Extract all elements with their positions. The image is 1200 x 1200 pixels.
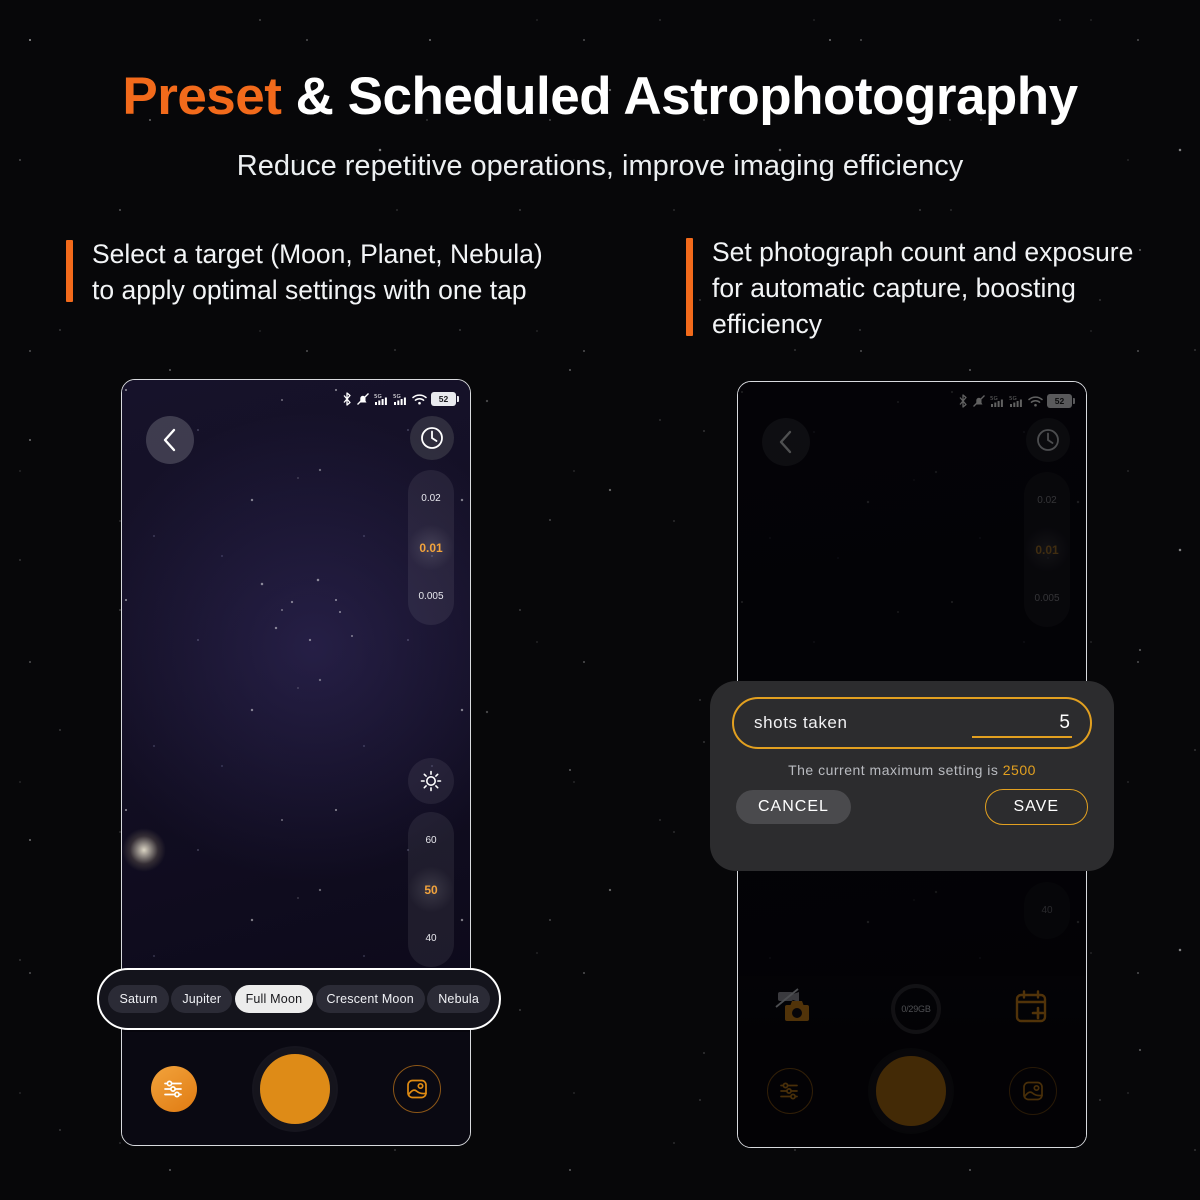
page-subtitle: Reduce repetitive operations, improve im… <box>0 150 1200 183</box>
max-setting-value: 2500 <box>1003 762 1036 778</box>
dialog-actions: CANCEL SAVE <box>732 789 1092 825</box>
camera-bottom-bar-left <box>122 1032 470 1145</box>
gallery-button[interactable] <box>393 1065 441 1113</box>
back-button[interactable] <box>146 416 194 464</box>
max-setting-hint-text: The current maximum setting is <box>788 762 1003 778</box>
signal-5g-icon: 5G <box>393 392 408 406</box>
page-title-rest: & Scheduled Astrophotography <box>281 67 1077 126</box>
preset-target-strip[interactable]: Saturn Jupiter Full Moon Crescent Moon N… <box>97 968 501 1030</box>
image-icon <box>404 1076 430 1102</box>
battery-level: 52 <box>439 394 448 404</box>
sliders-icon <box>161 1076 187 1102</box>
page-title: Preset & Scheduled Astrophotography <box>0 66 1200 127</box>
exposure-option[interactable]: 0.005 <box>409 572 453 621</box>
gain-wheel-left[interactable]: 60 50 40 <box>408 812 454 967</box>
battery-indicator: 52 <box>431 392 456 406</box>
chevron-left-icon <box>160 427 180 453</box>
shots-taken-value[interactable]: 5 <box>1059 712 1070 734</box>
brightness-button[interactable] <box>408 758 454 804</box>
bluetooth-icon <box>342 392 352 406</box>
star-cluster <box>252 570 372 660</box>
svg-text:5G: 5G <box>393 394 401 400</box>
phone-mockup-left: 5G 5G 52 0.02 0.01 0.005 60 50 40 <box>121 379 471 1146</box>
gain-option[interactable]: 40 <box>409 914 453 963</box>
wifi-icon <box>412 393 427 406</box>
status-bar-left: 5G 5G 52 <box>342 391 456 407</box>
page-title-accent: Preset <box>122 67 281 126</box>
max-setting-hint: The current maximum setting is 2500 <box>732 762 1092 778</box>
field-underline <box>972 736 1072 738</box>
preset-chip-full-moon[interactable]: Full Moon <box>235 985 314 1013</box>
exposure-option-selected[interactable]: 0.01 <box>409 523 453 572</box>
preset-chip-nebula[interactable]: Nebula <box>427 985 490 1013</box>
caption-left: Select a target (Moon, Planet, Nebula) t… <box>66 236 566 308</box>
svg-text:5G: 5G <box>374 394 382 400</box>
settings-button[interactable] <box>151 1066 197 1112</box>
sun-icon <box>419 769 443 793</box>
gain-option-selected[interactable]: 50 <box>409 865 453 914</box>
mute-bell-icon <box>356 392 370 406</box>
preset-chip-saturn[interactable]: Saturn <box>108 985 169 1013</box>
exposure-option[interactable]: 0.02 <box>409 474 453 523</box>
preset-chip-crescent-moon[interactable]: Crescent Moon <box>316 985 425 1013</box>
camera-viewfinder-left: 5G 5G 52 0.02 0.01 0.005 60 50 40 <box>122 380 470 974</box>
save-button[interactable]: SAVE <box>985 789 1089 825</box>
preset-chip-jupiter[interactable]: Jupiter <box>171 985 232 1013</box>
signal-5g-icon: 5G <box>374 392 389 406</box>
exposure-wheel-left[interactable]: 0.02 0.01 0.005 <box>408 470 454 625</box>
shutter-button[interactable] <box>254 1048 336 1130</box>
shots-taken-dialog: shots taken 5 The current maximum settin… <box>710 681 1114 871</box>
bright-star-glow <box>122 828 166 872</box>
shots-taken-label: shots taken <box>754 713 848 733</box>
timer-button[interactable] <box>410 416 454 460</box>
gain-option[interactable]: 60 <box>409 816 453 865</box>
clock-icon <box>419 425 445 451</box>
shots-taken-field[interactable]: shots taken 5 <box>732 697 1092 749</box>
caption-right: Set photograph count and exposure for au… <box>686 234 1156 342</box>
cancel-button[interactable]: CANCEL <box>736 790 851 824</box>
